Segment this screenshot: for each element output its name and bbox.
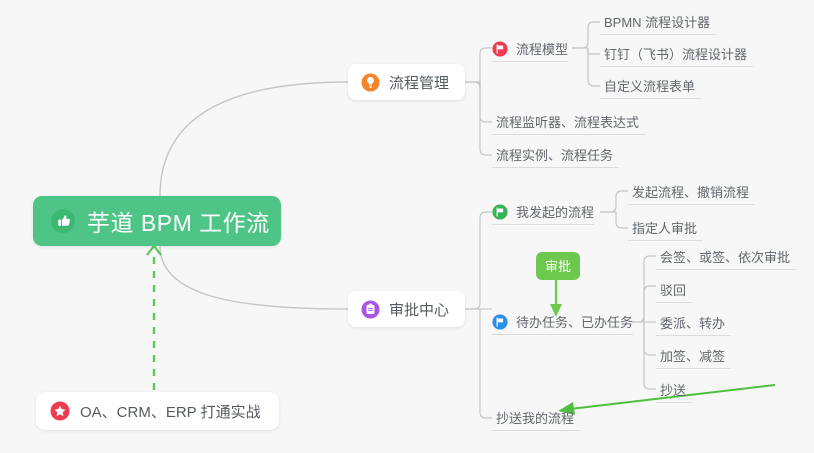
branch-label: 审批中心 [389, 299, 449, 320]
link-tasks-to-countersign [632, 256, 656, 322]
link-model-to-dingtalk [588, 48, 600, 54]
link-tasks-to-addsign [644, 322, 656, 355]
star-icon [50, 401, 70, 421]
leaf-label: 发起流程、撤销流程 [632, 182, 749, 201]
sub-node-label: 流程模型 [516, 39, 568, 58]
leaf-node-dingtalk-designer[interactable]: 钉钉（飞书）流程设计器 [600, 43, 753, 67]
leaf-node-cc[interactable]: 抄送 [656, 379, 692, 403]
link-ac-to-copied-to-me [480, 309, 492, 418]
link-tasks-to-reject [644, 286, 656, 322]
leaf-node-instance-task[interactable]: 流程实例、流程任务 [492, 144, 619, 168]
thumbs-up-icon [50, 208, 76, 234]
leaf-label: 流程监听器、流程表达式 [496, 112, 639, 131]
mindmap-canvas: 芋道 BPM 工作流 流程管理 流程模型 BPMN 流程设计器 钉钉（飞书 [0, 0, 814, 453]
link-ac-to-my-initiated [463, 212, 492, 309]
leaf-node-listener-expression[interactable]: 流程监听器、流程表达式 [492, 111, 645, 135]
callout-node-integration[interactable]: OA、CRM、ERP 打通实战 [36, 392, 279, 430]
branch-node-process-management[interactable]: 流程管理 [348, 64, 465, 100]
flag-icon [492, 204, 508, 220]
leaf-label: 驳回 [660, 280, 686, 299]
leaf-label: 抄送我的流程 [496, 408, 574, 427]
callout-label: OA、CRM、ERP 打通实战 [80, 401, 261, 422]
approval-tag-label: 审批 [545, 259, 571, 274]
leaf-label: 钉钉（飞书）流程设计器 [604, 44, 747, 63]
link-initiated-to-start [600, 191, 628, 212]
leaf-node-cc-to-me[interactable]: 抄送我的流程 [492, 407, 580, 431]
flag-icon [492, 314, 508, 330]
link-pm-to-process-model [463, 48, 492, 88]
leaf-node-countersign[interactable]: 会签、或签、依次审批 [656, 246, 796, 270]
leaf-label: 自定义流程表单 [604, 76, 695, 95]
leaf-node-add-remove-sign[interactable]: 加签、减签 [656, 345, 731, 369]
link-initiated-to-assignee [616, 212, 628, 228]
link-tasks-to-cc [644, 322, 656, 389]
leaf-node-delegate-transfer[interactable]: 委派、转办 [656, 312, 731, 336]
clipboard-icon [361, 300, 380, 319]
link-root-to-process-management [160, 82, 348, 196]
branch-node-approval-center[interactable]: 审批中心 [348, 291, 465, 327]
branch-label: 流程管理 [389, 72, 449, 93]
link-pm-to-instance [480, 82, 492, 155]
callout-arrow-head [147, 246, 161, 255]
sub-node-label: 我发起的流程 [516, 202, 594, 221]
root-node[interactable]: 芋道 BPM 工作流 [33, 196, 281, 246]
leaf-label: 抄送 [660, 380, 686, 399]
leaf-label: 指定人审批 [632, 218, 697, 237]
link-model-to-bpmn [572, 22, 600, 48]
root-label: 芋道 BPM 工作流 [87, 204, 270, 238]
sub-node-todo-done-tasks[interactable]: 待办任务、已办任务 [492, 311, 633, 335]
leaf-node-assignee-approval[interactable]: 指定人审批 [628, 217, 703, 241]
lightbulb-icon [361, 73, 380, 92]
link-pm-to-listener [480, 82, 492, 122]
leaf-label: 流程实例、流程任务 [496, 145, 613, 164]
leaf-label: 委派、转办 [660, 313, 725, 332]
leaf-node-start-cancel-process[interactable]: 发起流程、撤销流程 [628, 181, 755, 205]
leaf-node-reject[interactable]: 驳回 [656, 279, 692, 303]
sub-node-label: 待办任务、已办任务 [516, 312, 633, 331]
sub-node-my-initiated-process[interactable]: 我发起的流程 [492, 201, 594, 225]
leaf-label: 加签、减签 [660, 346, 725, 365]
approval-tag[interactable]: 审批 [536, 252, 580, 280]
sub-node-process-model[interactable]: 流程模型 [492, 38, 568, 62]
leaf-label: BPMN 流程设计器 [604, 12, 710, 31]
flag-icon [492, 41, 508, 57]
leaf-node-bpmn-designer[interactable]: BPMN 流程设计器 [600, 11, 716, 35]
link-model-to-custom-form [588, 48, 600, 86]
leaf-label: 会签、或签、依次审批 [660, 247, 790, 266]
leaf-node-custom-form[interactable]: 自定义流程表单 [600, 75, 701, 99]
link-root-to-approval-center [160, 246, 348, 309]
